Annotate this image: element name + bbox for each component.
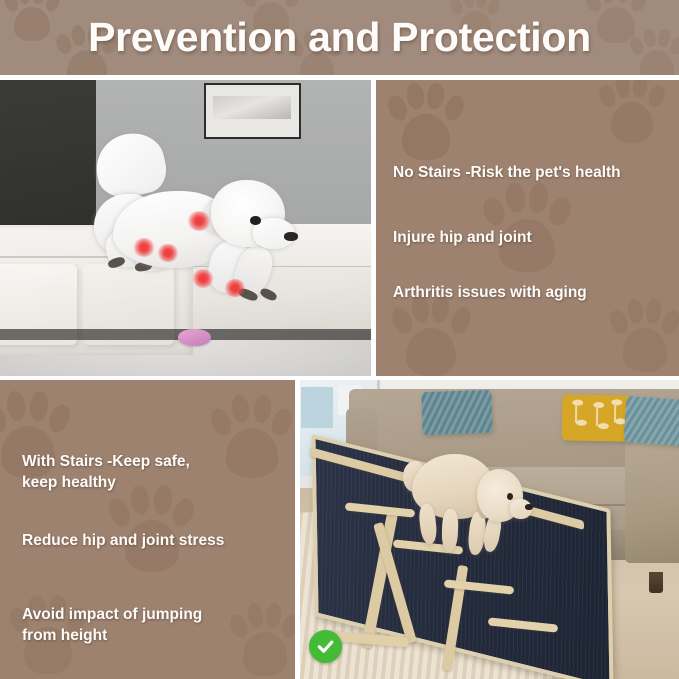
risk-item-1: No Stairs -Risk the pet's health <box>393 162 621 183</box>
joint-pain-marker <box>133 238 155 256</box>
benefit-item-1: With Stairs -Keep safe, keep healthy <box>22 451 190 493</box>
dog-tail <box>90 127 170 202</box>
panel-text-no-stairs: No Stairs -Risk the pet's health Injure … <box>376 80 679 376</box>
infographic-root: Prevention and Protection <box>0 0 679 679</box>
check-icon <box>315 636 336 657</box>
panel-photo-no-stairs <box>0 80 371 376</box>
panel-photo-with-ramp <box>300 380 679 679</box>
window-pane <box>301 387 333 428</box>
benefit-item-2: Reduce hip and joint stress <box>22 530 224 551</box>
risk-item-3: Arthritis issues with aging <box>393 282 587 303</box>
panel-text-with-stairs: With Stairs -Keep safe, keep healthy Red… <box>0 380 295 679</box>
dog-paw <box>259 286 278 302</box>
dog-hind-leg-right <box>441 509 459 552</box>
dog-nose <box>525 504 533 510</box>
benefit-list-advantages: With Stairs -Keep safe, keep healthy Red… <box>0 380 295 679</box>
joint-pain-marker <box>187 211 211 231</box>
pillow-mustard <box>562 394 633 442</box>
wall-art-frame <box>204 83 300 139</box>
pillow-teal <box>422 390 493 435</box>
status-badge-positive <box>309 630 342 663</box>
header-banner: Prevention and Protection <box>0 0 679 75</box>
risk-item-2: Injure hip and joint <box>393 227 532 248</box>
sofa-leg <box>649 572 663 592</box>
pillow-teal <box>623 396 679 447</box>
dog-bichon-frise <box>74 139 319 323</box>
benefit-list-risks: No Stairs -Risk the pet's health Injure … <box>376 80 679 376</box>
benefit-item-3: Avoid impact of jumping from height <box>22 604 202 646</box>
joint-pain-marker <box>192 269 214 287</box>
dog-nose <box>284 232 299 241</box>
dog-eye <box>250 216 260 224</box>
photo-dog-on-ramp <box>300 380 679 679</box>
page-title: Prevention and Protection <box>0 0 679 75</box>
photo-dog-jumping-off-sofa <box>0 80 371 376</box>
joint-pain-marker <box>224 279 246 297</box>
dog-doodle <box>406 434 542 560</box>
dog-eye <box>507 493 513 500</box>
